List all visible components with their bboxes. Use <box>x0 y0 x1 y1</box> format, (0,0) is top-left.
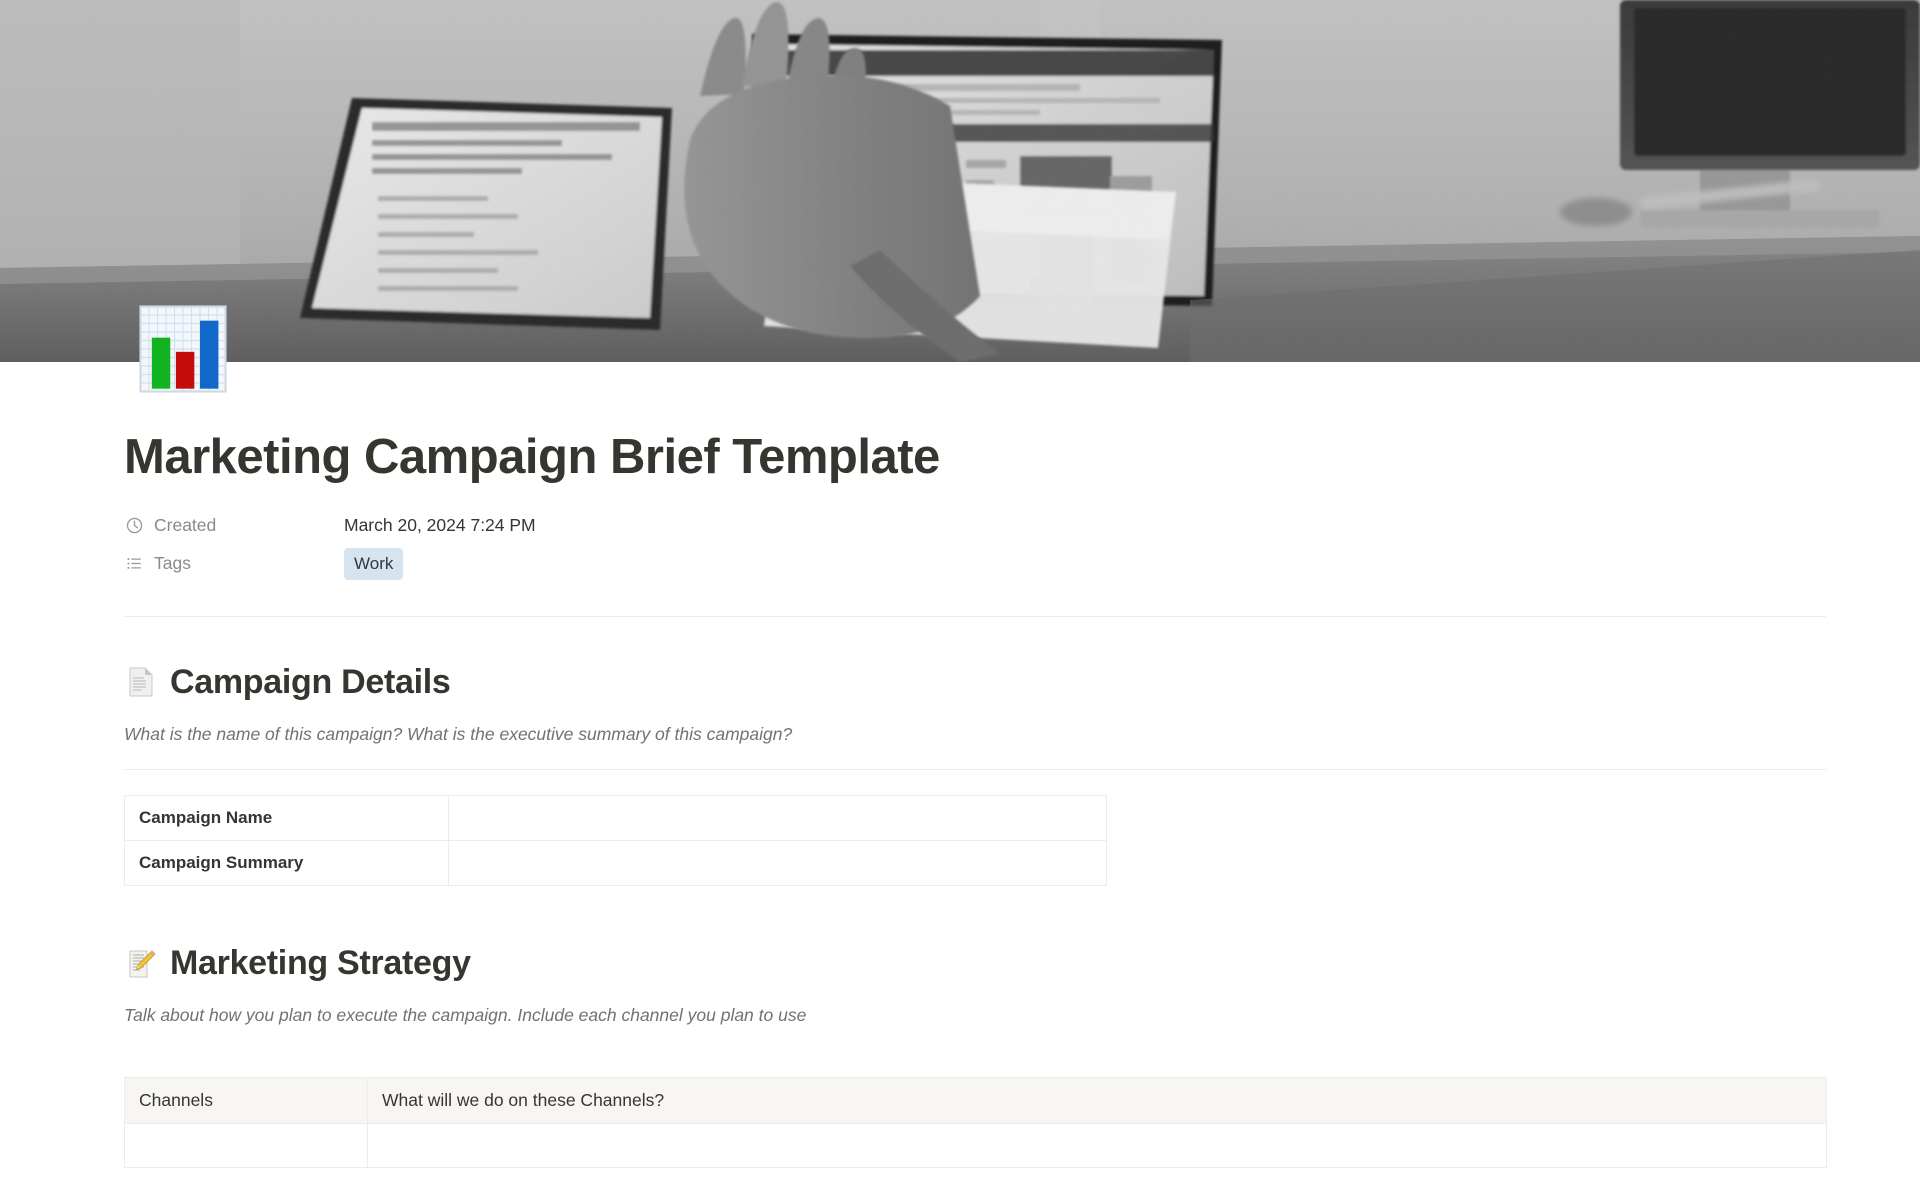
bar-chart-icon <box>132 298 234 400</box>
campaign-summary-value[interactable] <box>449 841 1107 886</box>
property-value-tags[interactable]: Work <box>344 548 403 580</box>
memo-icon <box>125 948 157 980</box>
property-name-tags: Tags <box>154 553 191 574</box>
page-facing-up-emoji-icon <box>124 665 158 699</box>
property-label-created: Created <box>124 515 344 536</box>
page-title[interactable]: Marketing Campaign Brief Template <box>124 430 1826 485</box>
property-row-created[interactable]: Created March 20, 2024 7:24 PM <box>124 507 1826 545</box>
table-row[interactable]: Campaign Summary <box>125 841 1107 886</box>
memo-emoji-icon <box>124 947 158 981</box>
section-heading-marketing-strategy[interactable]: Marketing Strategy <box>124 944 1826 983</box>
table-row[interactable] <box>125 1123 1827 1167</box>
table-header-row: Channels What will we do on these Channe… <box>125 1077 1827 1123</box>
channel-cell[interactable] <box>125 1123 368 1167</box>
column-header-channels[interactable]: Channels <box>125 1077 368 1123</box>
campaign-details-table[interactable]: Campaign Name Campaign Summary <box>124 795 1107 886</box>
section-description-marketing-strategy: Talk about how you plan to execute the c… <box>124 1003 1826 1028</box>
document-content: Marketing Campaign Brief Template Create… <box>124 362 1826 1168</box>
section-campaign-details: Campaign Details What is the name of thi… <box>124 663 1826 886</box>
property-label-tags: Tags <box>124 553 344 574</box>
clock-icon <box>124 516 144 536</box>
status-badge[interactable]: Work <box>344 548 403 580</box>
channels-table[interactable]: Channels What will we do on these Channe… <box>124 1077 1827 1168</box>
list-icon <box>124 554 144 574</box>
property-row-tags[interactable]: Tags Work <box>124 545 1826 583</box>
plan-cell[interactable] <box>368 1123 1827 1167</box>
table-row[interactable]: Campaign Name <box>125 796 1107 841</box>
divider-after-properties <box>124 616 1826 617</box>
section-title: Campaign Details <box>170 663 451 702</box>
page-properties: Created March 20, 2024 7:24 PM Tags Work <box>124 507 1826 583</box>
section-title: Marketing Strategy <box>170 944 471 983</box>
campaign-summary-label: Campaign Summary <box>125 841 449 886</box>
document-page: Marketing Campaign Brief Template Create… <box>0 0 1920 1199</box>
property-value-created[interactable]: March 20, 2024 7:24 PM <box>344 515 536 536</box>
cover-banner[interactable] <box>0 0 1920 362</box>
document-icon <box>125 666 157 698</box>
section-heading-campaign-details[interactable]: Campaign Details <box>124 663 1826 702</box>
bar-chart-emoji-icon[interactable] <box>132 298 234 400</box>
property-name-created: Created <box>154 515 216 536</box>
campaign-name-label: Campaign Name <box>125 796 449 841</box>
cover-photo <box>0 0 1920 362</box>
column-header-plan[interactable]: What will we do on these Channels? <box>368 1077 1827 1123</box>
section-marketing-strategy: Marketing Strategy Talk about how you pl… <box>124 944 1826 1167</box>
campaign-name-value[interactable] <box>449 796 1107 841</box>
section-description-campaign-details: What is the name of this campaign? What … <box>124 722 1826 747</box>
divider-after-campaign-description <box>124 769 1826 770</box>
